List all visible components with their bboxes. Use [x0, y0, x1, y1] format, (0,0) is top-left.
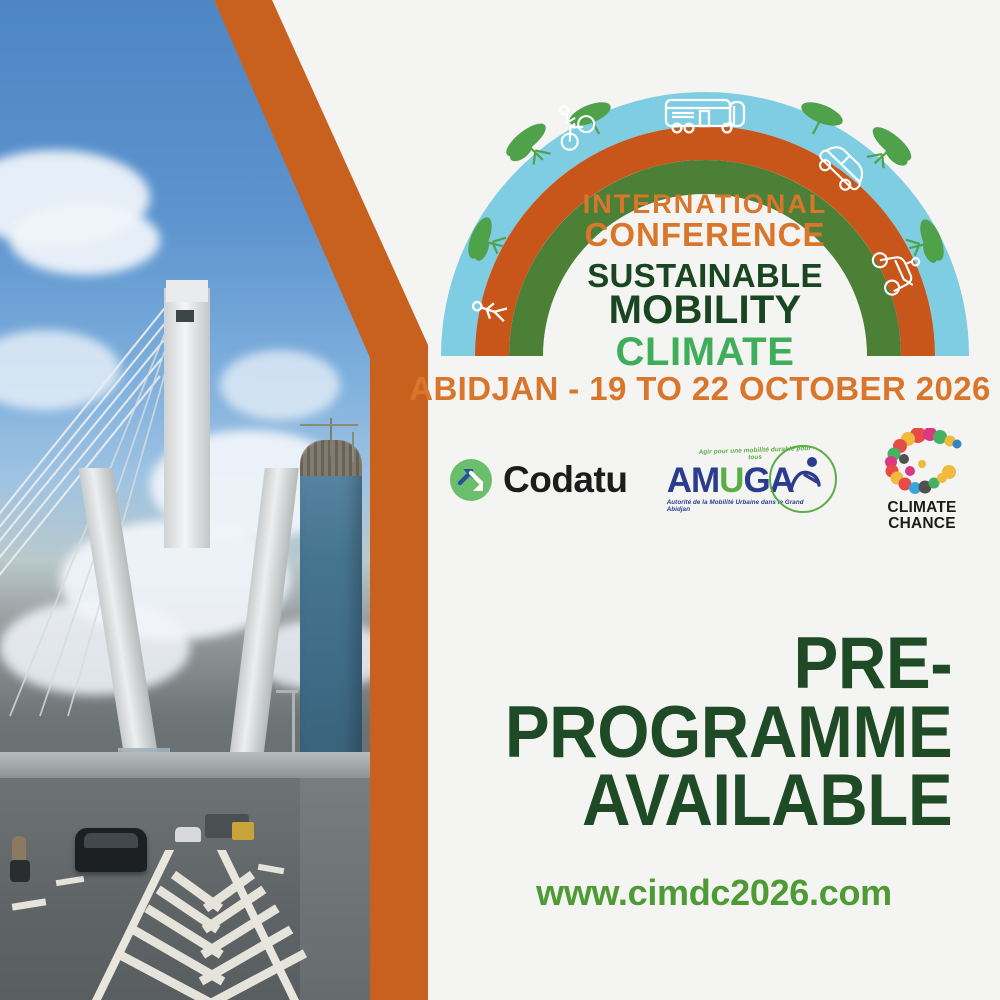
logo-line-climate: CLIMATE [440, 333, 970, 371]
car [75, 828, 147, 872]
roadway [0, 760, 400, 1000]
climate-chance-wordmark: CLIMATE CHANCE [874, 500, 970, 532]
truck-distant [232, 822, 254, 840]
content-panel: INTERNATIONAL CONFERENCE SUSTAINABLE MOB… [400, 0, 1000, 1000]
partner-logos: Codatu Agir pour une mobilité durable po… [450, 425, 970, 535]
conference-logo: INTERNATIONAL CONFERENCE SUSTAINABLE MOB… [440, 88, 970, 356]
road-dash [258, 864, 285, 874]
bridge-barrier [0, 752, 400, 778]
amuga-runner-icon [781, 453, 829, 501]
pylon-leg-right [228, 468, 299, 768]
codatu-wordmark: Codatu [503, 459, 627, 501]
cloud [10, 205, 160, 275]
partner-logo-climate-chance[interactable]: CLIMATE CHANCE [874, 428, 970, 532]
event-date-line: ABIDJAN - 19 TO 22 OCTOBER 2026 [400, 370, 1000, 408]
partner-logo-amuga[interactable]: Agir pour une mobilité durable pour tous… [665, 441, 837, 519]
headline-line-2: AVAILABLE [448, 767, 952, 836]
website-url[interactable]: www.cimdc2026.com [400, 872, 1000, 914]
climate-chance-line1: CLIMATE [887, 499, 956, 516]
bridge-pylon [108, 288, 288, 768]
page-title: PRE-PROGRAMME AVAILABLE [448, 630, 1000, 836]
logo-line-international: INTERNATIONAL [440, 192, 970, 218]
road-dash [56, 876, 85, 886]
street-lamp-arm [276, 690, 298, 693]
bridge-photo-image [0, 0, 400, 1000]
climate-chance-c-icon [874, 428, 970, 496]
car-distant [175, 827, 201, 842]
logo-wordmark: INTERNATIONAL CONFERENCE SUSTAINABLE MOB… [440, 192, 970, 371]
motorcyclist [10, 836, 30, 882]
climate-chance-dots [874, 428, 970, 496]
crane-arm [300, 424, 358, 426]
pylon-head [166, 280, 208, 302]
street-lamp-arm [118, 748, 136, 751]
climate-chance-line2: CHANCE [888, 515, 956, 532]
road-shoulder [300, 760, 400, 1000]
pylon-window [176, 310, 194, 322]
partner-logo-codatu[interactable]: Codatu [450, 459, 627, 501]
pylon-mast [164, 288, 210, 548]
promo-poster: INTERNATIONAL CONFERENCE SUSTAINABLE MOB… [0, 0, 1000, 1000]
logo-line-conference: CONFERENCE [440, 219, 970, 251]
crane-mast [352, 432, 354, 462]
codatu-circle-icon [450, 459, 492, 501]
logo-line-sustainable: SUSTAINABLE [440, 260, 970, 292]
headline-line-1: PRE-PROGRAMME [448, 630, 952, 767]
bridge-photo [0, 0, 400, 1000]
codatu-arrows-icon [450, 459, 492, 501]
logo-line-mobility: MOBILITY [440, 291, 970, 329]
motorcycle-body [10, 860, 30, 882]
road-dash [12, 898, 47, 910]
